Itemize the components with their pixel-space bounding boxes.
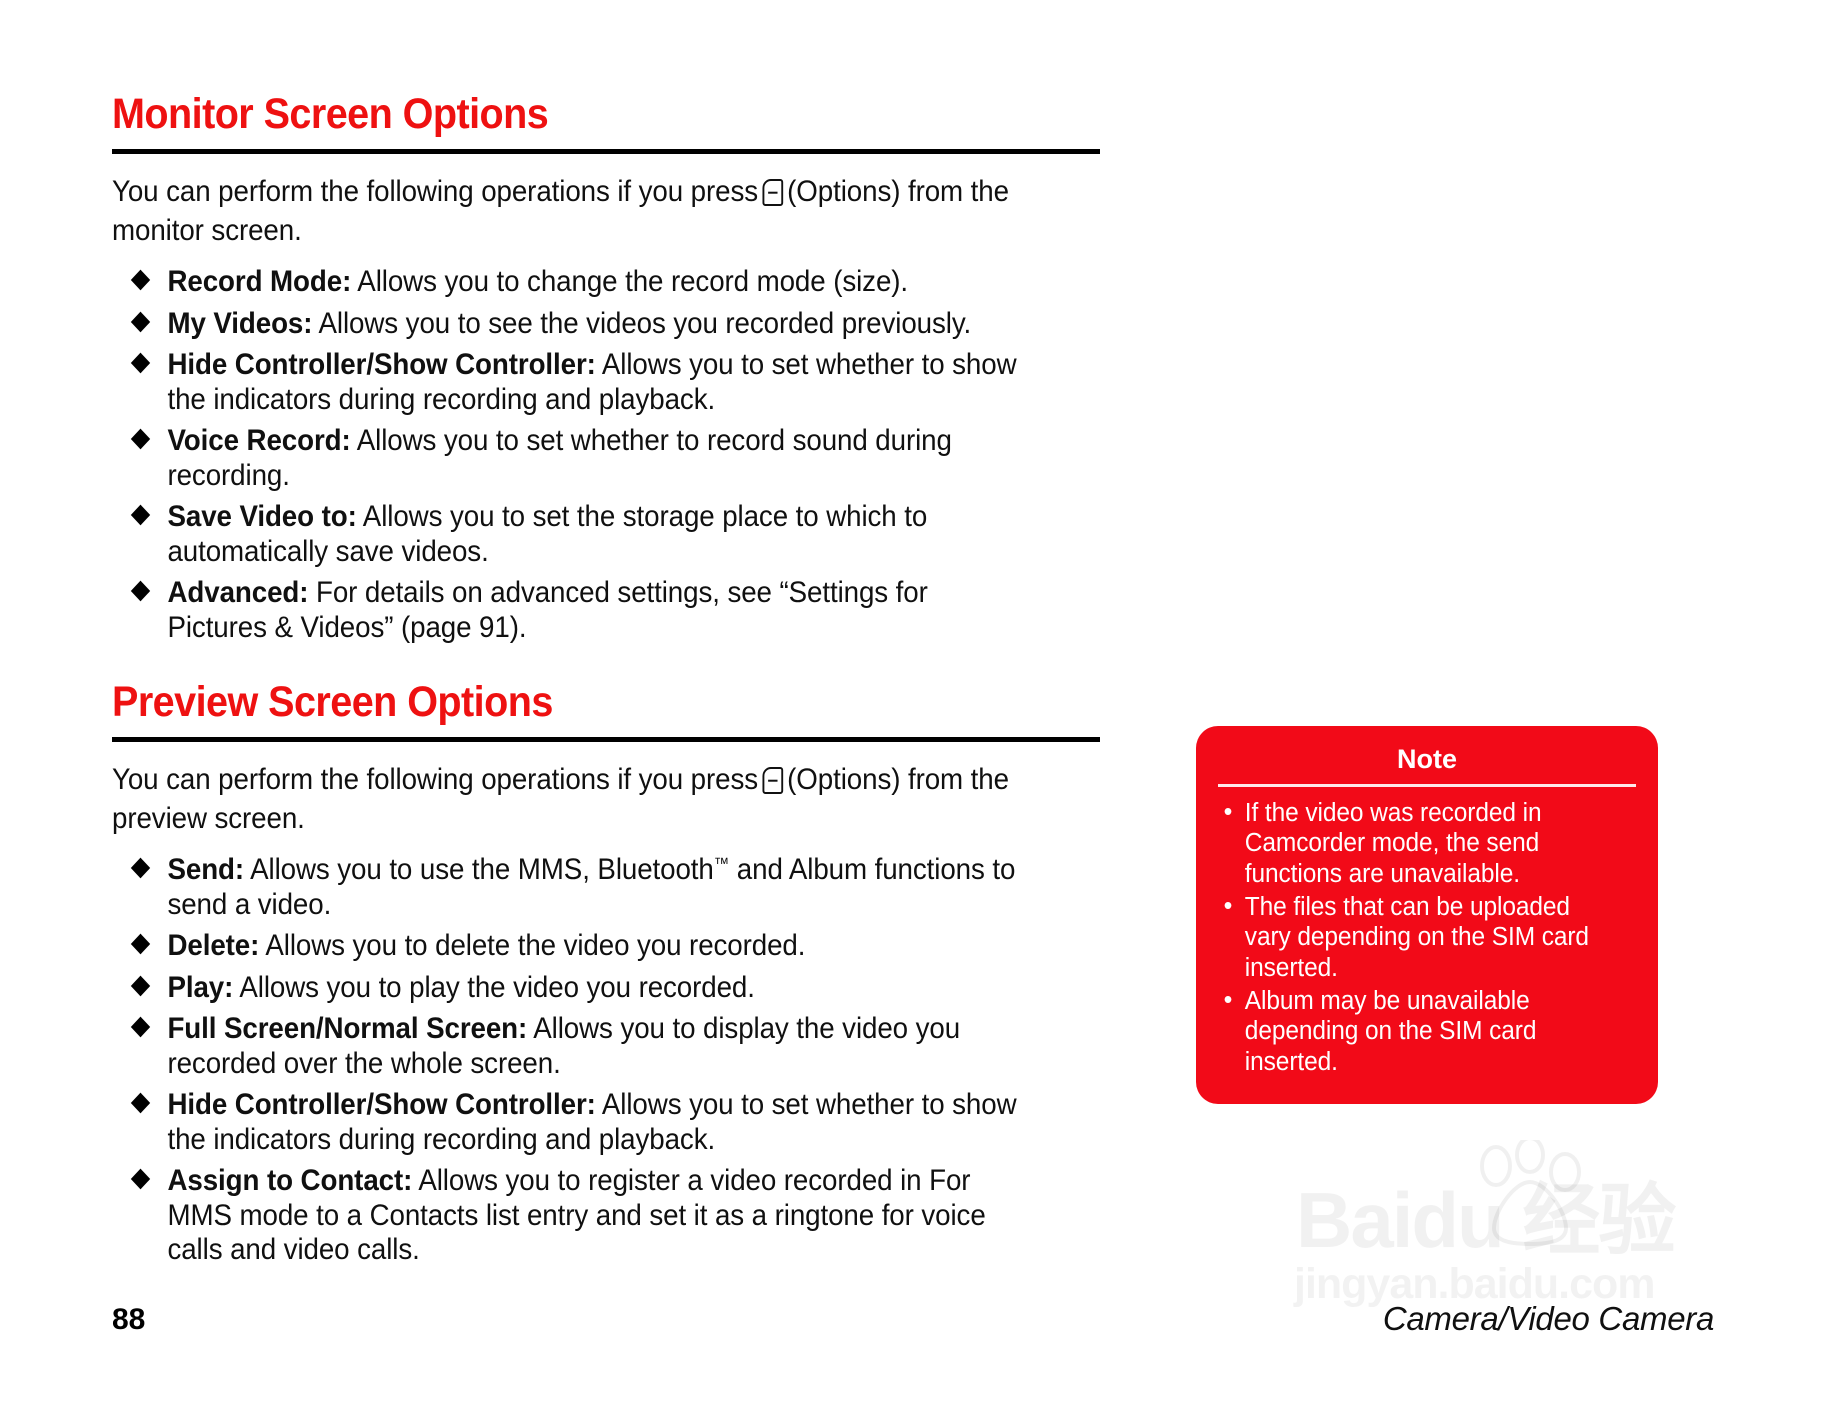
option-description: Allows you to use the MMS, Bluetooth™ an…: [167, 853, 1015, 921]
option-description: Allows you to see the videos you recorde…: [312, 307, 971, 340]
section-heading-monitor: Monitor Screen Options: [112, 92, 1032, 137]
option-description: Allows you to change the record mode (si…: [351, 265, 908, 298]
options-list-preview: Send: Allows you to use the MMS, Bluetoo…: [112, 853, 1092, 1268]
list-item: Play: Allows you to play the video you r…: [112, 971, 1033, 1006]
list-item: Voice Record: Allows you to set whether …: [112, 424, 1033, 493]
option-description: Allows you to play the video you recorde…: [233, 971, 755, 1004]
list-item: Advanced: For details on advanced settin…: [112, 576, 1033, 645]
option-term: Hide Controller/Show Controller:: [167, 348, 595, 381]
option-term: Save Video to:: [167, 500, 356, 533]
option-description: Allows you to delete the video you recor…: [259, 929, 805, 962]
list-item: Send: Allows you to use the MMS, Bluetoo…: [112, 853, 1033, 922]
option-term: Voice Record:: [167, 424, 350, 457]
note-divider: [1218, 784, 1636, 787]
section-intro-preview: You can perform the following operations…: [112, 761, 1014, 839]
list-item: Delete: Allows you to delete the video y…: [112, 929, 1033, 964]
options-softkey-icon: [763, 179, 784, 206]
note-bullet-list: If the video was recorded in Camcorder m…: [1216, 798, 1638, 1077]
list-item: Save Video to: Allows you to set the sto…: [112, 500, 1033, 569]
section-heading-preview: Preview Screen Options: [112, 680, 1032, 725]
option-term: Hide Controller/Show Controller:: [167, 1088, 595, 1121]
heading-rule-preview: [112, 737, 1100, 742]
list-item: Album may be unavailable depending on th…: [1216, 986, 1621, 1077]
intro-text-before-icon: You can perform the following operations…: [112, 175, 758, 208]
option-term: My Videos:: [167, 307, 312, 340]
baidu-watermark-logo: Baidu 经验: [1296, 1158, 1674, 1270]
option-term: Advanced:: [167, 576, 308, 609]
footer-chapter-title: Camera/Video Camera: [1383, 1300, 1714, 1338]
options-list-monitor: Record Mode: Allows you to change the re…: [112, 265, 1092, 645]
section-intro-monitor: You can perform the following operations…: [112, 173, 1014, 251]
list-item: Full Screen/Normal Screen: Allows you to…: [112, 1012, 1033, 1081]
baidu-watermark: Baidu 经验 jingyan.baidu.com: [1288, 1148, 1748, 1323]
baidu-paw-icon: [1470, 1140, 1590, 1250]
list-item: My Videos: Allows you to see the videos …: [112, 307, 1033, 342]
manual-page: Monitor Screen Options You can perform t…: [0, 0, 1826, 1405]
list-item: Record Mode: Allows you to change the re…: [112, 265, 1033, 300]
note-title: Note: [1216, 744, 1638, 784]
list-item: If the video was recorded in Camcorder m…: [1216, 798, 1621, 889]
list-item: Hide Controller/Show Controller: Allows …: [112, 1088, 1033, 1157]
list-item: The files that can be uploaded vary depe…: [1216, 892, 1621, 983]
option-term: Full Screen/Normal Screen:: [167, 1012, 527, 1045]
options-softkey-icon: [763, 767, 784, 794]
heading-rule-monitor: [112, 149, 1100, 154]
option-term: Play:: [167, 971, 233, 1004]
main-content-column: Monitor Screen Options You can perform t…: [112, 92, 1112, 1275]
option-term: Record Mode:: [167, 265, 351, 298]
list-item: Hide Controller/Show Controller: Allows …: [112, 348, 1033, 417]
note-callout: Note If the video was recorded in Camcor…: [1196, 726, 1658, 1104]
option-term: Delete:: [167, 929, 259, 962]
list-item: Assign to Contact: Allows you to registe…: [112, 1164, 1033, 1268]
option-term: Send:: [167, 853, 244, 886]
option-term: Assign to Contact:: [167, 1164, 412, 1197]
page-number: 88: [112, 1303, 145, 1337]
intro-text-before-icon: You can perform the following operations…: [112, 763, 758, 796]
